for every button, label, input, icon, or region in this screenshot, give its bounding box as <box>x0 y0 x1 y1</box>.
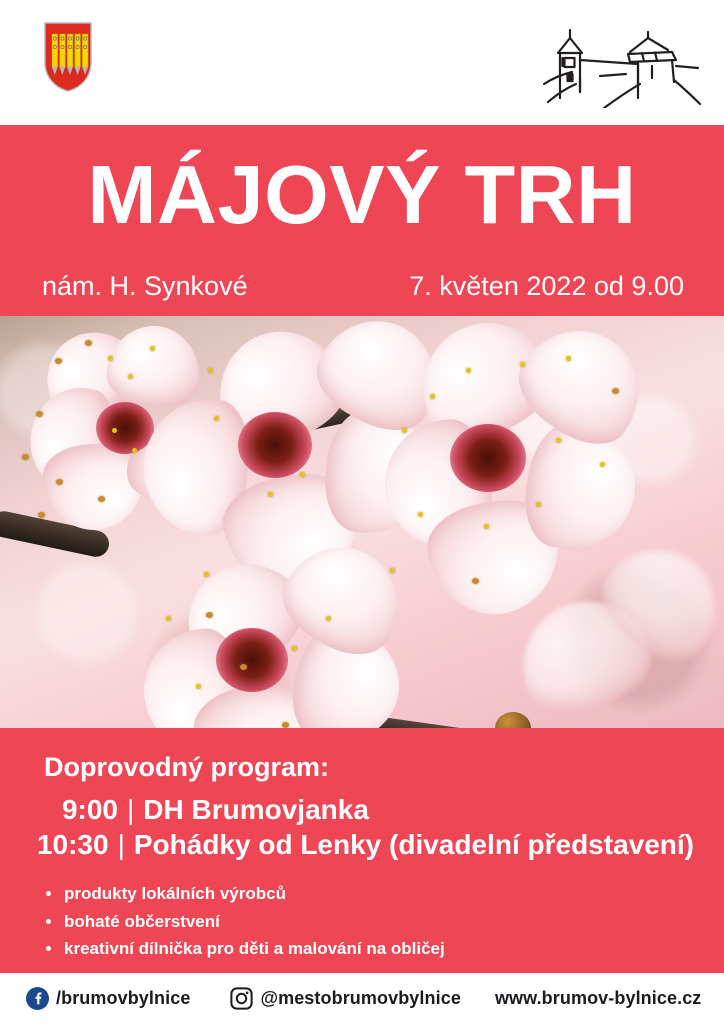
poster-footer: /brumovbylnice @mestobrumovbylnice www.b… <box>0 973 724 1024</box>
list-item: produkty lokálních výrobců <box>44 880 445 908</box>
stamen-dot <box>98 496 105 502</box>
flower-center <box>96 402 154 454</box>
website-label: www.brumov-bylnice.cz <box>495 988 701 1009</box>
stamen-dot <box>466 368 471 373</box>
highlights-list: produkty lokálních výrobců bohaté občers… <box>44 880 445 963</box>
program-row: 10:30 | Pohádky od Lenky (divadelní před… <box>34 827 694 862</box>
stamen-dot <box>208 368 213 373</box>
stamen-dot <box>166 616 171 621</box>
coat-of-arms-icon <box>44 22 92 92</box>
program-title: Pohádky od Lenky (divadelní představení) <box>134 827 694 862</box>
title-band: MÁJOVÝ TRH nám. H. Synkové 7. květen 202… <box>0 125 724 316</box>
stamen-dot <box>472 578 479 584</box>
stamen-dot <box>300 472 305 477</box>
poster-root: MÁJOVÝ TRH nám. H. Synkové 7. květen 202… <box>0 0 724 1024</box>
stamen-dot <box>132 448 137 453</box>
facebook-icon <box>26 987 49 1010</box>
stamen-dot <box>536 502 541 507</box>
program-band: Doprovodný program: 9:00 | DH Brumovjank… <box>0 728 724 973</box>
stamen-dot <box>214 416 219 421</box>
flower-center <box>450 424 526 492</box>
stamen-dot <box>418 512 423 517</box>
list-item: bohaté občerstvení <box>44 908 445 936</box>
stamen-dot <box>240 664 247 670</box>
stamen-dot <box>204 572 209 577</box>
facebook-label: /brumovbylnice <box>56 988 190 1009</box>
program-row: 9:00 | DH Brumovjanka <box>34 792 694 827</box>
stamen-dot <box>128 374 133 379</box>
event-location: nám. H. Synkové <box>42 271 248 302</box>
program-schedule: 9:00 | DH Brumovjanka 10:30 | Pohádky od… <box>34 792 694 862</box>
flower-center <box>216 628 288 692</box>
stamen-dot <box>600 462 605 467</box>
stamen-dot <box>268 492 273 497</box>
flower-center <box>238 412 312 478</box>
stamen-dot <box>206 612 213 618</box>
stamen-dot <box>108 356 113 361</box>
program-time: 9:00 <box>34 792 118 827</box>
program-heading: Doprovodný program: <box>44 752 329 783</box>
stamen-dot <box>36 411 43 417</box>
program-separator: | <box>118 792 143 827</box>
stamen-dot <box>484 524 489 529</box>
stamen-dot <box>55 358 62 364</box>
instagram-label: @mestobrumovbylnice <box>260 988 461 1009</box>
stamen-dot <box>612 388 619 394</box>
stamen-dot <box>56 479 63 485</box>
website-link[interactable]: www.brumov-bylnice.cz <box>495 988 701 1009</box>
stamen-dot <box>112 428 117 433</box>
castle-landmark-icon <box>542 16 702 108</box>
stamen-dot <box>402 428 407 433</box>
list-item: kreativní dílnička pro děti a malování n… <box>44 935 445 963</box>
stamen-dot <box>326 616 331 621</box>
stamen-dot <box>520 362 525 367</box>
stamen-dot <box>196 684 201 689</box>
stamen-dot <box>150 346 155 351</box>
facebook-link[interactable]: /brumovbylnice <box>26 987 190 1010</box>
page-title: MÁJOVÝ TRH <box>0 153 724 236</box>
program-separator: | <box>109 827 134 862</box>
event-datetime: 7. květen 2022 od 9.00 <box>409 271 684 302</box>
program-title: DH Brumovjanka <box>143 792 369 827</box>
stamen-dot <box>390 568 395 573</box>
stamen-dot <box>292 646 297 651</box>
blossom-photo <box>0 316 724 728</box>
stamen-dot <box>22 454 29 460</box>
stamen-dot <box>556 438 561 443</box>
stamen-dot <box>566 356 571 361</box>
instagram-link[interactable]: @mestobrumovbylnice <box>230 987 461 1010</box>
event-meta-row: nám. H. Synkové 7. květen 2022 od 9.00 <box>0 271 724 302</box>
program-time: 10:30 <box>34 827 109 862</box>
stamen-dot <box>38 512 45 518</box>
stamen-dot <box>430 394 435 399</box>
poster-header <box>0 0 724 125</box>
instagram-icon <box>230 987 253 1010</box>
stamen-dot <box>85 340 92 346</box>
